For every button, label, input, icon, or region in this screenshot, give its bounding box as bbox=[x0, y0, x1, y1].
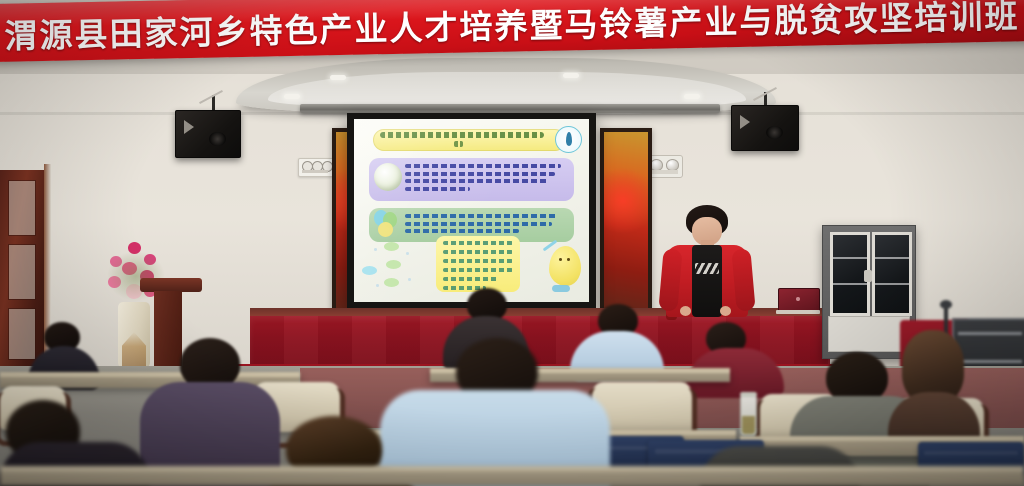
yellow-text-line-5 bbox=[443, 277, 498, 281]
cabinet-shelf-2 bbox=[833, 283, 867, 285]
green-text-line-1 bbox=[405, 214, 558, 218]
diagram-spark-3 bbox=[376, 284, 379, 287]
yellow-text-line-2 bbox=[443, 250, 513, 254]
presentation-slide bbox=[354, 119, 589, 302]
emergency-light-strip bbox=[650, 170, 678, 174]
left-speaker-cone bbox=[209, 132, 226, 146]
left-speaker-stem bbox=[212, 95, 215, 111]
diagram-node-3 bbox=[384, 278, 399, 287]
wall-art-right-highlight bbox=[600, 167, 652, 234]
right-ceiling-speaker bbox=[731, 105, 799, 151]
podium-top bbox=[140, 278, 202, 292]
wall-art-right bbox=[600, 128, 652, 332]
cabinet-shelf-1 bbox=[833, 257, 867, 259]
tea-bottle-lid bbox=[740, 392, 757, 397]
mascot-foot bbox=[552, 285, 570, 292]
tea-bottle-on-desk[interactable] bbox=[740, 394, 757, 436]
attendee-light-blue-shirt bbox=[570, 304, 664, 376]
tea-liquid bbox=[742, 416, 755, 434]
door-light-mid bbox=[8, 244, 36, 300]
cabinet-glass-door-right[interactable] bbox=[872, 232, 912, 316]
cartoon-potato-mascot-icon bbox=[543, 238, 583, 290]
slide-title-box bbox=[373, 129, 566, 151]
diagram-node-2 bbox=[386, 260, 401, 269]
slide-title-subline bbox=[454, 141, 463, 147]
green-text-line-3 bbox=[405, 229, 519, 233]
purple-text-line-4 bbox=[405, 187, 470, 191]
left-speaker-tweeter-icon bbox=[184, 120, 194, 134]
wall-control-panel[interactable] bbox=[298, 158, 334, 177]
downlight-1 bbox=[330, 75, 346, 80]
stage-laptop[interactable] bbox=[776, 288, 820, 314]
desk-edge bbox=[0, 466, 1024, 471]
attendee-purple-shirt bbox=[140, 338, 280, 486]
photo-scene: 渭源县田家河乡特色产业人才培养暨马铃薯产业与脱贫攻坚培训班 bbox=[0, 0, 1024, 486]
laptop-logo-icon bbox=[796, 297, 800, 301]
mascot-eye-right bbox=[567, 258, 570, 261]
right-speaker-cone bbox=[766, 126, 783, 139]
cabinet-shelf-3 bbox=[875, 257, 909, 259]
yellow-text-line-4 bbox=[443, 268, 513, 272]
mascot-body bbox=[549, 246, 581, 286]
water-drop-icon bbox=[566, 132, 572, 146]
purple-text-line-1 bbox=[405, 164, 561, 168]
presenter-shirt-print bbox=[695, 263, 719, 274]
yellow-text-line-1 bbox=[443, 241, 513, 245]
attendee-long-hair-woman bbox=[888, 330, 980, 442]
downlight-3 bbox=[284, 94, 300, 99]
folder-flap bbox=[924, 451, 1017, 455]
control-panel-label bbox=[302, 170, 328, 173]
diagram-spark-2 bbox=[406, 252, 409, 255]
downlight-4 bbox=[684, 94, 700, 99]
mic-stand-head-icon bbox=[940, 300, 952, 309]
presenter-dark-shirt bbox=[692, 245, 722, 317]
presenter-left-hand bbox=[680, 306, 691, 316]
slide-bottom-region bbox=[360, 236, 583, 294]
presenter-right-arm bbox=[731, 248, 755, 311]
right-speaker-tweeter-icon bbox=[740, 115, 750, 129]
presenter-right-hand bbox=[720, 306, 731, 316]
door-light-top bbox=[8, 180, 36, 236]
slide-organization-logo-icon bbox=[555, 126, 582, 153]
mascot-eye-left bbox=[559, 258, 562, 261]
slide-node-diagram bbox=[362, 240, 432, 292]
yellow-text-line-3 bbox=[443, 259, 513, 263]
downlight-2 bbox=[563, 73, 579, 78]
diagram-node-1 bbox=[384, 242, 399, 251]
purple-text-line-2 bbox=[405, 172, 555, 176]
slide-yellow-summary-box bbox=[436, 236, 520, 292]
presenter-woman bbox=[658, 205, 756, 317]
left-ceiling-speaker bbox=[175, 110, 241, 158]
diagram-node-4 bbox=[362, 266, 377, 275]
purple-text-line-3 bbox=[405, 179, 548, 183]
bubble-yellow-icon bbox=[378, 222, 393, 237]
green-text-line-2 bbox=[405, 222, 552, 226]
cabinet-handle[interactable] bbox=[864, 270, 872, 282]
projection-screen bbox=[354, 119, 589, 302]
cabinet-shelf-4 bbox=[875, 283, 909, 285]
potato-illustration-icon bbox=[374, 163, 402, 191]
laptop-base bbox=[776, 310, 820, 314]
slide-purple-content-box bbox=[369, 158, 574, 201]
slide-title-text-line bbox=[380, 132, 544, 138]
diagram-spark-1 bbox=[374, 248, 377, 251]
desk-front-row bbox=[0, 466, 1024, 486]
diagram-spark-4 bbox=[408, 278, 411, 281]
